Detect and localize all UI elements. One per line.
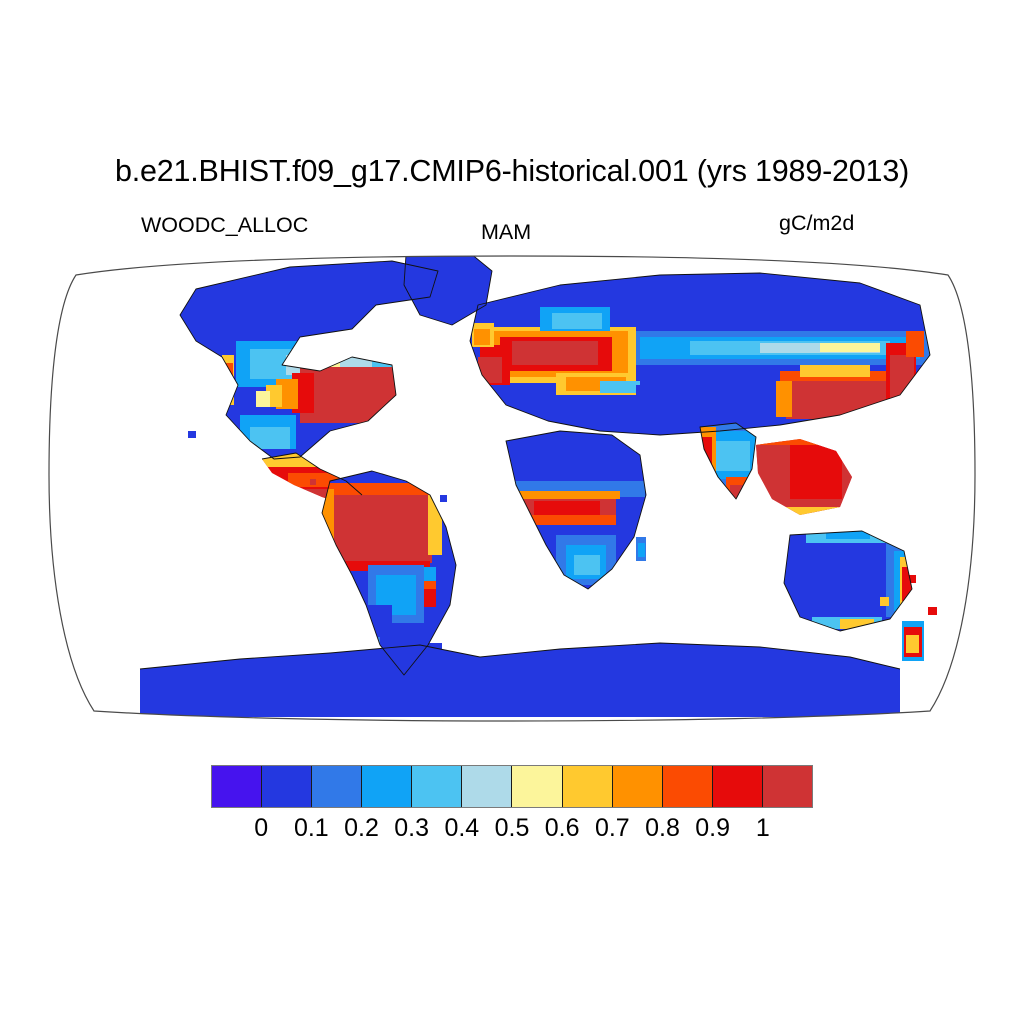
units-label: gC/m2d <box>779 210 854 236</box>
colorbar-tick-0.1: 0.1 <box>294 812 329 844</box>
figure-canvas: b.e21.BHIST.f09_g17.CMIP6-historical.001… <box>0 0 1024 1024</box>
colorbar-tick-0.9: 0.9 <box>695 812 730 844</box>
colorbar-cell-8 <box>613 766 663 807</box>
colorbar-tick-0.2: 0.2 <box>344 812 379 844</box>
colorbar-tick-0: 0 <box>254 812 268 844</box>
colorbar-cell-9 <box>663 766 713 807</box>
colorbar-cell-1 <box>262 766 312 807</box>
colorbar-cell-10 <box>713 766 763 807</box>
colorbar-cell-2 <box>312 766 362 807</box>
season-label: MAM <box>481 219 531 245</box>
colorbar-tick-0.8: 0.8 <box>645 812 680 844</box>
colorbar-cell-3 <box>362 766 412 807</box>
colorbar-tick-0.5: 0.5 <box>495 812 530 844</box>
colorbar-tick-1: 1 <box>756 812 770 844</box>
colorbar[interactable] <box>211 765 813 808</box>
page-title: b.e21.BHIST.f09_g17.CMIP6-historical.001… <box>0 152 1024 190</box>
colorbar-cell-0 <box>212 766 262 807</box>
colorbar-tick-labels: 00.10.20.30.40.50.60.70.80.91 <box>211 812 813 846</box>
colorbar-cell-11 <box>763 766 812 807</box>
map-plot <box>0 245 1024 735</box>
variable-label: WOODC_ALLOC <box>141 212 308 238</box>
colorbar-tick-0.4: 0.4 <box>444 812 479 844</box>
colorbar-tick-0.3: 0.3 <box>394 812 429 844</box>
colorbar-cell-7 <box>563 766 613 807</box>
colorbar-cell-6 <box>512 766 562 807</box>
colorbar-cell-5 <box>462 766 512 807</box>
colorbar-tick-0.7: 0.7 <box>595 812 630 844</box>
colorbar-cell-4 <box>412 766 462 807</box>
colorbar-tick-0.6: 0.6 <box>545 812 580 844</box>
